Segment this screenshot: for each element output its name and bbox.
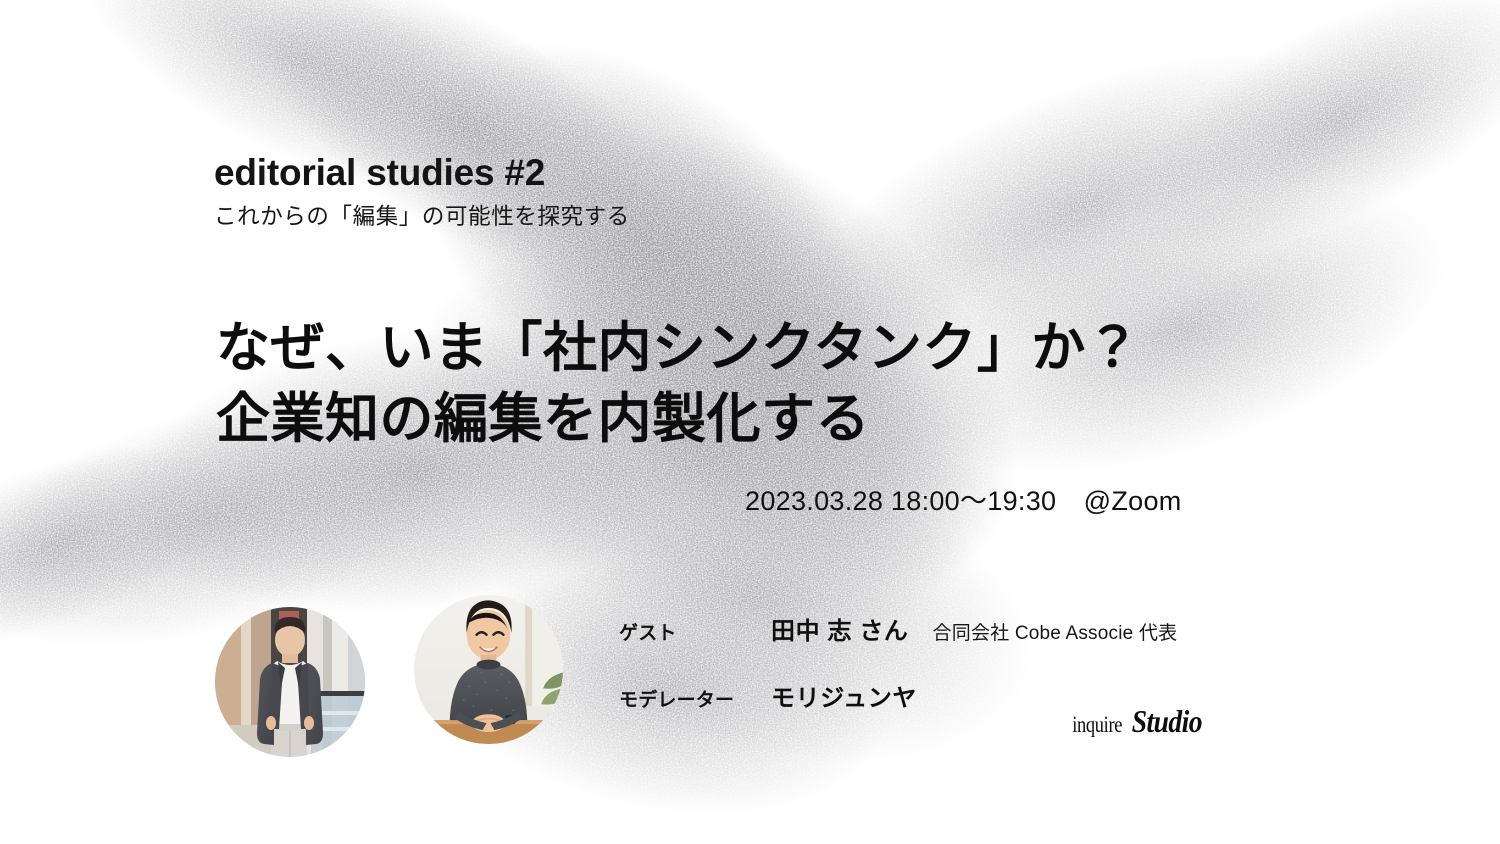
event-datetime-venue: 2023.03.28 18:00〜19:30 @Zoom: [745, 479, 1182, 518]
credits-block: ゲスト 田中 志 さん 合同会社 Cobe Associe 代表 モデレーター …: [619, 611, 1177, 713]
title-line-1: なぜ、いま「社内シンクタンク」か？: [216, 313, 1140, 384]
page-title: なぜ、いま「社内シンクタンク」か？ 企業知の編集を内製化する: [216, 313, 1140, 456]
guest-portrait: [215, 607, 365, 757]
credit-role-guest: ゲスト: [619, 618, 771, 645]
series-header: editorial studies #2 これからの「編集」の可能性を探究する: [214, 152, 630, 232]
moderator-portrait: [414, 595, 563, 744]
title-line-2: 企業知の編集を内製化する: [216, 384, 1140, 455]
credit-row-guest: ゲスト 田中 志 さん 合同会社 Cobe Associe 代表: [619, 611, 1177, 646]
event-poster: editorial studies #2 これからの「編集」の可能性を探究する …: [0, 0, 1500, 844]
credit-role-moderator: モデレーター: [619, 685, 771, 712]
logo-wordmark-studio: Studio: [1132, 703, 1202, 740]
logo-wordmark-inquire: inquire: [1072, 712, 1122, 738]
credit-name-guest: 田中 志 さん: [771, 611, 909, 646]
credit-org-guest: 合同会社 Cobe Associe 代表: [933, 618, 1178, 645]
credit-name-moderator: モリジュンヤ: [771, 678, 917, 713]
inquire-studio-logo: inquire Studio: [1066, 703, 1208, 740]
series-title: editorial studies #2: [214, 152, 630, 193]
series-subtitle: これからの「編集」の可能性を探究する: [214, 202, 630, 231]
